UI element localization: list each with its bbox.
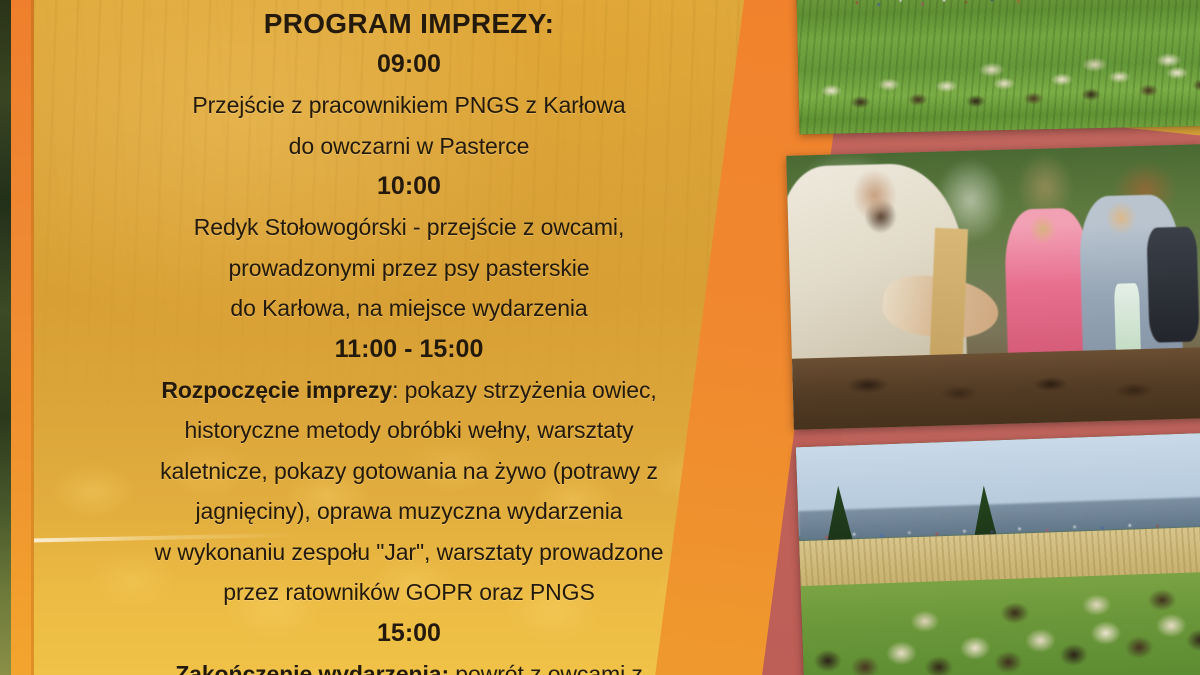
program-line: Zakończenie wydarzenia: powrót z owcami … — [51, 654, 767, 675]
left-orange-accent-band — [11, 0, 34, 675]
program-time-0900: 09:00 — [51, 44, 767, 85]
program-line: do owczarni w Pasterce — [51, 126, 767, 167]
program-line: przez ratowników GOPR oraz PNGS — [51, 572, 767, 613]
program-line-text: : pokazy strzyżenia owiec, — [392, 377, 657, 403]
program-line-emphasis: Zakończenie wydarzenia: — [175, 661, 449, 675]
photo-sheep-flock-pasture — [797, 0, 1200, 134]
sheep-flock — [806, 43, 1200, 123]
program-line: historyczne metody obróbki wełny, warszt… — [51, 410, 767, 451]
program-line: w wykonaniu zespołu "Jar", warsztaty pro… — [51, 532, 767, 573]
program-line: kaletnicze, pokazy gotowania na żywo (po… — [51, 451, 767, 492]
program-time-1100-1500: 11:00 - 15:00 — [51, 329, 767, 370]
program-line: Przejście z pracownikiem PNGS z Karłowa — [51, 85, 767, 126]
program-line: jagnięciny), oprawa muzyczna wydarzenia — [51, 491, 767, 532]
program-line: prowadzonymi przez psy pasterskie — [51, 248, 767, 289]
program-line: Redyk Stołowogórski - przejście z owcami… — [51, 207, 767, 248]
program-time-1500: 15:00 — [51, 613, 767, 654]
program-heading: PROGRAM IMPREZY: — [51, 4, 767, 44]
photo-wool-workshop — [786, 144, 1200, 430]
workshop-table — [792, 347, 1200, 430]
program-line-emphasis: Rozpoczęcie imprezy — [161, 377, 392, 403]
program-time-1000: 10:00 — [51, 166, 767, 207]
program-line-text: powrót z owcami z — [449, 661, 643, 675]
program-text-column: PROGRAM IMPREZY: 09:00 Przejście z praco… — [33, 0, 785, 675]
sheep-herd — [800, 547, 1200, 675]
backpack — [1146, 227, 1199, 343]
program-line: Rozpoczęcie imprezy: pokazy strzyżenia o… — [51, 370, 767, 411]
program-line: do Karłowa, na miejsce wydarzenia — [51, 288, 767, 329]
event-program-poster: PROGRAM IMPREZY: 09:00 Przejście z praco… — [0, 0, 1200, 675]
photo-herd-dry-grass — [796, 433, 1200, 675]
